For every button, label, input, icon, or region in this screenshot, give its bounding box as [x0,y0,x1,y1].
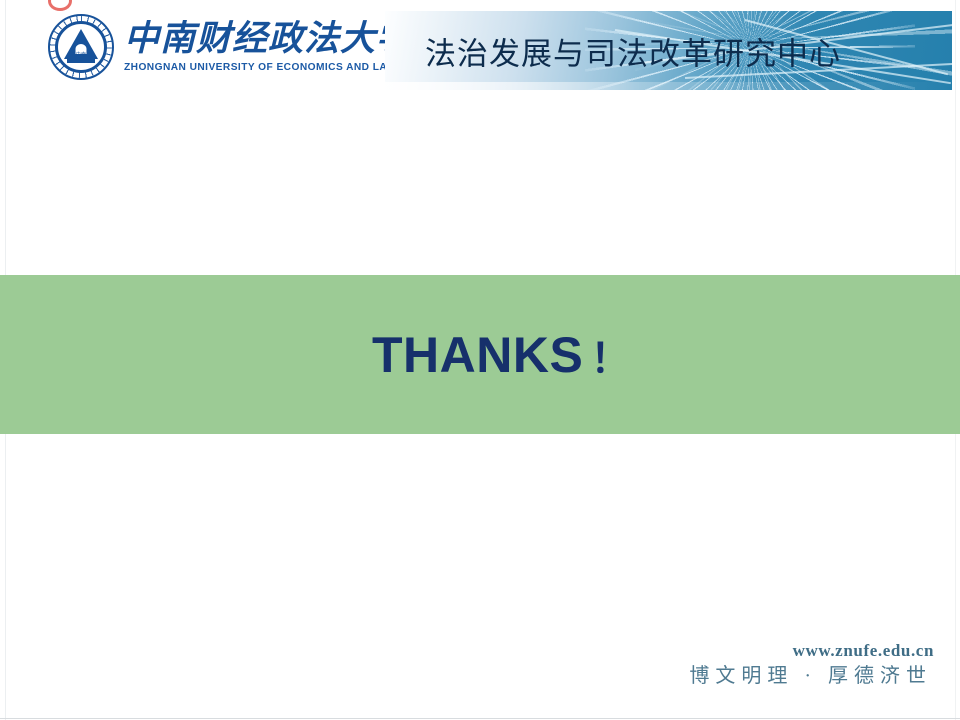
university-logo: 中南 中南财经政法大学 ZHONGNAN UNIVERSITY OF ECONO… [48,14,412,80]
research-center-title: 法治发展与司法改革研究中心 [425,28,841,73]
presentation-slide: 中南 中南财经政法大学 ZHONGNAN UNIVERSITY OF ECONO… [0,0,960,720]
slide-footer: www.znufe.edu.cn 博文明理 · 厚德济世 [689,642,934,688]
university-name-chinese: 中南财经政法大学 [124,21,412,58]
slide-border-bottom [0,718,960,719]
university-motto: 博文明理 · 厚德济世 [689,664,934,688]
slide-header: 中南 中南财经政法大学 ZHONGNAN UNIVERSITY OF ECONO… [0,0,960,102]
university-wordmark: 中南财经政法大学 ZHONGNAN UNIVERSITY OF ECONOMIC… [124,21,412,73]
thanks-text: THANKS [372,330,583,380]
banner-bottom-fade [385,82,952,90]
thanks-band: THANKS ！ [0,275,960,434]
university-seal-icon: 中南 [48,14,114,80]
thanks-exclamation: ！ [590,339,631,379]
seal-base-bar [67,59,95,63]
seal-center-label: 中南 [76,51,87,58]
header-banner: 法治发展与司法改革研究中心 [385,11,952,90]
thanks-heading: THANKS ！ [372,330,631,380]
university-website-url[interactable]: www.znufe.edu.cn [689,642,934,661]
university-name-english: ZHONGNAN UNIVERSITY OF ECONOMICS AND LAW [124,61,403,73]
